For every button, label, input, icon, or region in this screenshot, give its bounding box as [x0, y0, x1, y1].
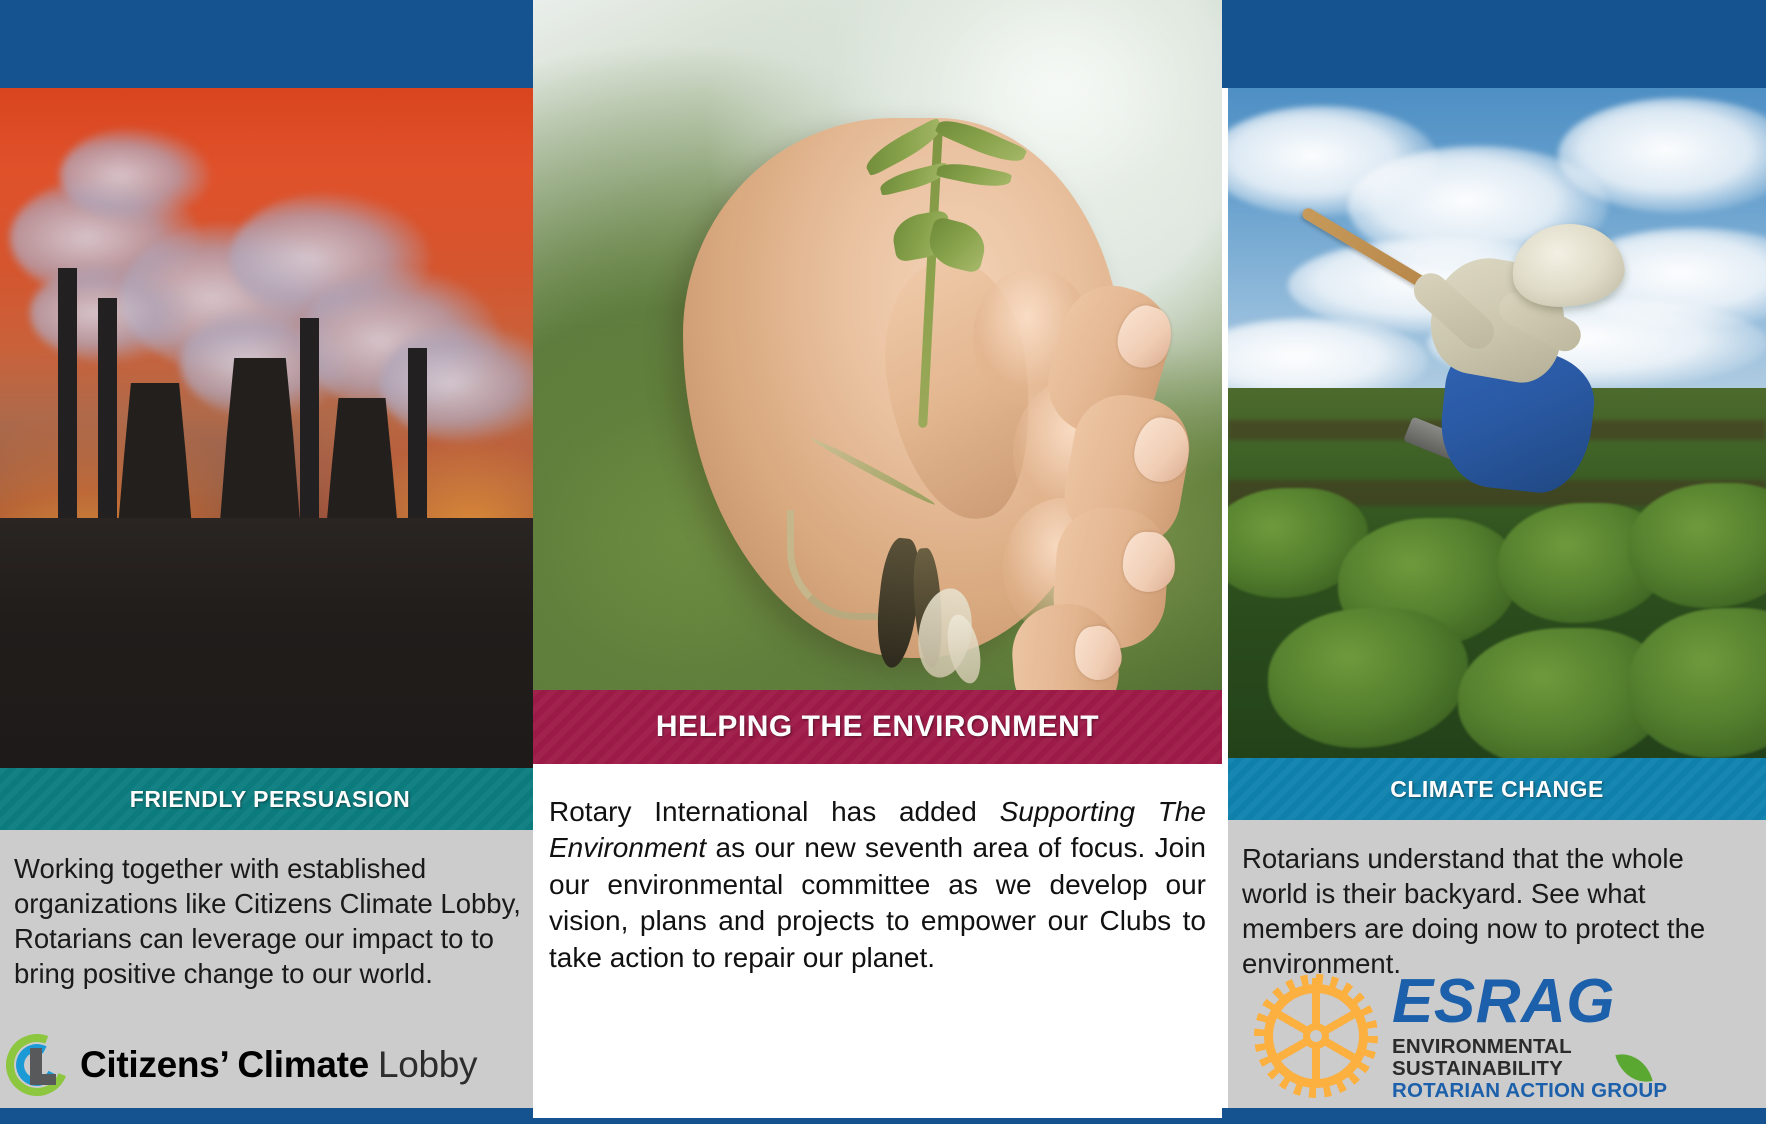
fingernail: [1122, 531, 1176, 593]
body-climate-change: Rotarians understand that the whole worl…: [1228, 820, 1766, 1108]
rotary-wheel-icon: [1254, 974, 1378, 1098]
body-helping-the-environment: Rotary International has added Supportin…: [533, 764, 1222, 1118]
banner-label: HELPING THE ENVIRONMENT: [656, 710, 1099, 744]
banner-helping-the-environment: HELPING THE ENVIRONMENT: [533, 690, 1222, 764]
body-paragraph: Working together with established organi…: [14, 852, 526, 992]
smoke-plume: [60, 128, 210, 223]
photo-smokestacks: [0, 88, 540, 768]
panel-helping-the-environment[interactable]: HELPING THE ENVIRONMENT Rotary Internati…: [533, 0, 1222, 1118]
panel-friendly-persuasion[interactable]: FRIENDLY PERSUASION Working together wit…: [0, 88, 540, 1108]
banner-friendly-persuasion: FRIENDLY PERSUASION: [0, 768, 540, 830]
esrag-subtitle-line-3: ROTARIAN ACTION GROUP: [1392, 1080, 1667, 1102]
ccl-wordmark-light: Lobby: [378, 1044, 477, 1086]
citizens-climate-lobby-logo: Citizens’ Climate Lobby: [6, 1034, 477, 1096]
esrag-subtitle: ENVIRONMENTAL SUSTAINABILITY ROTARIAN AC…: [1392, 1036, 1667, 1102]
body-paragraph: Rotarians understand that the whole worl…: [1242, 842, 1752, 982]
body-paragraph-part-1: Rotary International has added: [549, 796, 1000, 827]
photo-hand-seedling: [533, 0, 1222, 690]
rotary-keyway: [1312, 978, 1320, 1000]
banner-label: FRIENDLY PERSUASION: [130, 786, 410, 813]
ccl-mark-icon: [6, 1034, 68, 1096]
ccl-wordmark-bold: Citizens’ Climate: [80, 1044, 369, 1086]
ccl-wordmark: Citizens’ Climate Lobby: [80, 1044, 477, 1086]
esrag-wordmark-block: ESRAG ENVIRONMENTAL SUSTAINABILITY ROTAR…: [1392, 971, 1667, 1102]
body-friendly-persuasion: Working together with established organi…: [0, 830, 540, 1108]
ground-silhouette: [0, 518, 540, 768]
seedling-leaf: [936, 159, 1012, 192]
slide-root: FRIENDLY PERSUASION Working together wit…: [0, 0, 1766, 1124]
banner-label: CLIMATE CHANGE: [1390, 776, 1604, 803]
panel-climate-change[interactable]: CLIMATE CHANGE Rotarians understand that…: [1228, 88, 1766, 1108]
photo-farmer-field: [1228, 88, 1766, 758]
esrag-logo: ESRAG ENVIRONMENTAL SUSTAINABILITY ROTAR…: [1254, 971, 1667, 1102]
banner-climate-change: CLIMATE CHANGE: [1228, 758, 1766, 820]
ccl-l-glyph-icon: [30, 1048, 42, 1074]
body-paragraph: Rotary International has added Supportin…: [549, 794, 1206, 976]
esrag-wordmark: ESRAG: [1392, 971, 1667, 1033]
